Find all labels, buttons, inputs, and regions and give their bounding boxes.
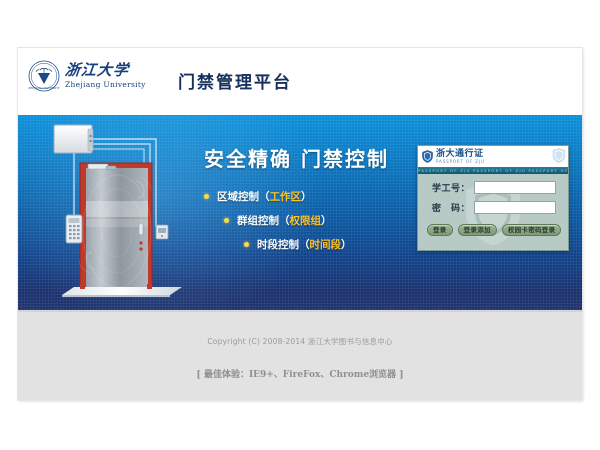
site-footer: Copyright (C) 2008-2014 浙江大学图书与信息中心 [ 最佳… bbox=[18, 310, 582, 400]
zju-seal-icon: ZHEJIANG UNIVERSITY bbox=[28, 60, 60, 92]
university-logo[interactable]: ZHEJIANG UNIVERSITY 浙江大学 Zhejiang Univer… bbox=[28, 60, 146, 92]
university-name-cn: 浙江大学 bbox=[64, 63, 146, 78]
feature-tail: ） bbox=[301, 189, 312, 204]
login-panel-title-en: PASSPORT OF ZJU bbox=[436, 160, 485, 164]
feature-highlight: 工作区 bbox=[270, 189, 302, 204]
login-panel: 浙大通行证 PASSPORT OF ZJU PASSPORT OF ZJU PA… bbox=[417, 145, 569, 251]
login-panel-body: 学工号： 密 码： 登录 登录添加 校园卡密码登录 bbox=[418, 174, 568, 249]
svg-text:ZHEJIANG UNIVERSITY: ZHEJIANG UNIVERSITY bbox=[28, 87, 60, 90]
feature-tail: ） bbox=[341, 237, 352, 252]
hero-banner: 安全精确 门禁控制 区域控制（ 工作区 ） 群组控制（ 权限组 ） 时段控制（ bbox=[18, 115, 582, 310]
password-field[interactable] bbox=[474, 201, 556, 214]
feature-item-time-control: 时段控制（ 时间段 ） bbox=[244, 237, 419, 252]
bullet-dot-icon bbox=[224, 218, 229, 223]
feature-item-area-control: 区域控制（ 工作区 ） bbox=[204, 189, 419, 204]
student-staff-id-field[interactable] bbox=[474, 181, 556, 194]
bullet-dot-icon bbox=[204, 194, 209, 199]
university-name-en: Zhejiang University bbox=[65, 81, 146, 89]
login-button[interactable]: 登录 bbox=[427, 224, 453, 236]
site-header: ZHEJIANG UNIVERSITY 浙江大学 Zhejiang Univer… bbox=[18, 48, 582, 115]
hero-copy: 安全精确 门禁控制 区域控制（ 工作区 ） 群组控制（ 权限组 ） 时段控制（ bbox=[204, 143, 419, 261]
feature-list: 区域控制（ 工作区 ） 群组控制（ 权限组 ） 时段控制（ 时间段 ） bbox=[204, 189, 419, 252]
access-control-door-illustration bbox=[44, 123, 194, 303]
student-staff-id-label: 学工号： bbox=[428, 181, 470, 194]
feature-label: 群组控制（ bbox=[237, 213, 290, 228]
field-row-student-staff-id: 学工号： bbox=[428, 181, 568, 194]
footer-copyright: Copyright (C) 2008-2014 浙江大学图书与信息中心 bbox=[18, 336, 582, 347]
field-row-password: 密 码： bbox=[428, 201, 568, 214]
shield-icon bbox=[422, 150, 433, 163]
login-button-group: 登录 登录添加 校园卡密码登录 bbox=[427, 224, 568, 236]
hero-headline: 安全精确 门禁控制 bbox=[204, 143, 419, 172]
login-panel-titles: 浙大通行证 PASSPORT OF ZJU bbox=[436, 150, 485, 164]
campus-card-login-button[interactable]: 校园卡密码登录 bbox=[502, 224, 562, 236]
login-panel-strip: PASSPORT OF ZJU PASSPORT OF ZJU PASSPORT… bbox=[418, 167, 568, 174]
shield-watermark-icon bbox=[552, 147, 566, 164]
bullet-dot-icon bbox=[244, 242, 249, 247]
feature-highlight: 时间段 bbox=[310, 237, 342, 252]
page-title: 门禁管理平台 bbox=[178, 68, 292, 93]
university-name: 浙江大学 Zhejiang University bbox=[65, 63, 146, 89]
feature-label: 区域控制（ bbox=[217, 189, 270, 204]
password-label: 密 码： bbox=[428, 201, 470, 214]
feature-highlight: 权限组 bbox=[290, 213, 322, 228]
page-container: ZHEJIANG UNIVERSITY 浙江大学 Zhejiang Univer… bbox=[18, 48, 582, 400]
footer-browser-note: [ 最佳体验：IE9+、FireFox、Chrome浏览器 ] bbox=[18, 367, 582, 380]
login-panel-header: 浙大通行证 PASSPORT OF ZJU bbox=[418, 146, 568, 167]
feature-label: 时段控制（ bbox=[257, 237, 310, 252]
feature-item-group-control: 群组控制（ 权限组 ） bbox=[224, 213, 419, 228]
login-add-button[interactable]: 登录添加 bbox=[458, 224, 497, 236]
feature-tail: ） bbox=[321, 213, 332, 228]
login-panel-title-cn: 浙大通行证 bbox=[436, 150, 485, 159]
